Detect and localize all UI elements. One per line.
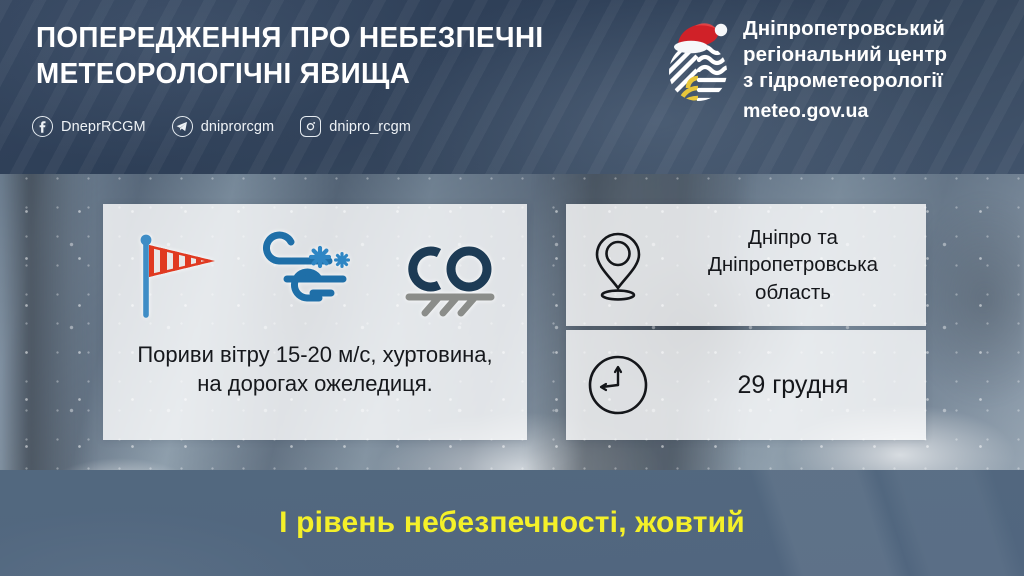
- social-link-facebook[interactable]: DneprRCGM: [32, 116, 146, 137]
- facebook-handle: DneprRCGM: [61, 119, 146, 135]
- location-text: Дніпро та Дніпропетровська область: [670, 224, 926, 305]
- weather-warning-poster: ПОПЕРЕДЖЕННЯ ПРО НЕБЕЗПЕЧНІ МЕТЕОРОЛОГІЧ…: [0, 0, 1024, 576]
- warning-card: Пориви вітру 15-20 м/с, хуртовина, на до…: [103, 204, 527, 440]
- facebook-icon: [32, 116, 53, 137]
- blowing-snow-icon: [257, 227, 357, 324]
- instagram-icon: [300, 116, 321, 137]
- warning-description: Пориви вітру 15-20 м/с, хуртовина, на до…: [127, 340, 503, 398]
- organization-logo-block: Дніпропетровський регіональний центр з г…: [665, 16, 947, 123]
- black-ice-road-icon: [395, 227, 501, 324]
- page-title: ПОПЕРЕДЖЕННЯ ПРО НЕБЕЗПЕЧНІ МЕТЕОРОЛОГІЧ…: [36, 20, 631, 93]
- map-pin-icon: [566, 228, 670, 302]
- date-card: 29 грудня: [566, 330, 926, 440]
- organization-website[interactable]: meteo.gov.ua: [743, 100, 947, 123]
- instagram-handle: dnipro_rcgm: [329, 119, 411, 135]
- santa-hat-icon: [674, 23, 727, 53]
- social-link-telegram[interactable]: dniprorcgm: [172, 116, 275, 137]
- telegram-icon: [172, 116, 193, 137]
- organization-name: Дніпропетровський регіональний центр з г…: [743, 16, 947, 95]
- social-links-row: DneprRCGM dniprorcgm d: [32, 116, 411, 137]
- organization-text-block: Дніпропетровський регіональний центр з г…: [743, 16, 947, 123]
- telegram-handle: dniprorcgm: [201, 119, 275, 135]
- header-bar: ПОПЕРЕДЖЕННЯ ПРО НЕБЕЗПЕЧНІ МЕТЕОРОЛОГІЧ…: [0, 0, 1024, 174]
- location-card: Дніпро та Дніпропетровська область: [566, 204, 926, 326]
- danger-level-banner: І рівень небезпечності, жовтий: [0, 470, 1024, 576]
- warning-icons-row: [103, 226, 527, 324]
- social-link-instagram[interactable]: dnipro_rcgm: [300, 116, 411, 137]
- danger-level-text: І рівень небезпечності, жовтий: [0, 470, 1024, 576]
- date-text: 29 грудня: [670, 369, 926, 402]
- wind-pennant-icon: [129, 225, 219, 326]
- gidromet-logo-icon: [665, 16, 731, 108]
- clock-icon: [566, 354, 670, 416]
